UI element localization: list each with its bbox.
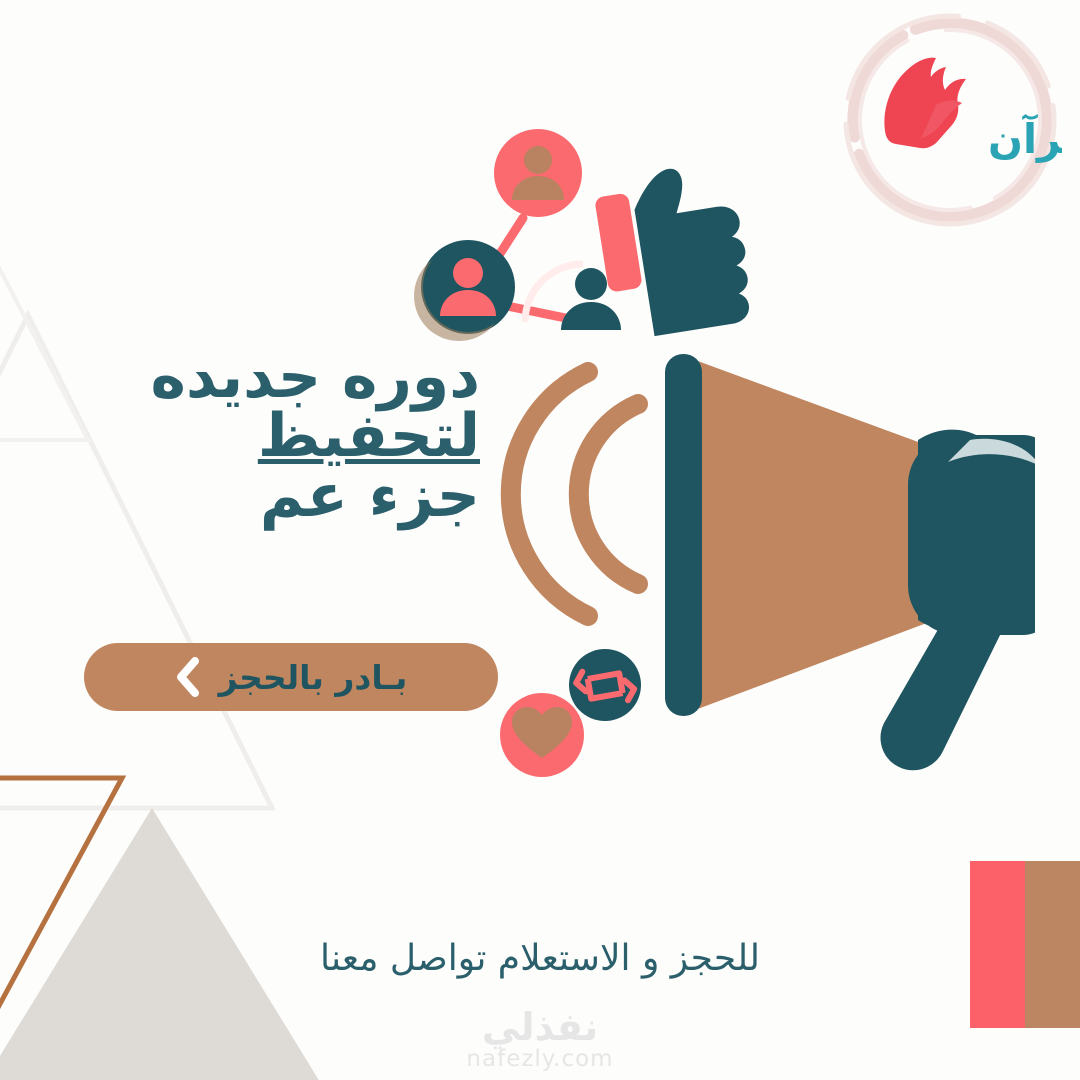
chevron-left-icon: [175, 657, 201, 697]
contact-line: للحجز و الاستعلام تواصل معنا: [120, 938, 960, 979]
heart-icon[interactable]: [500, 693, 584, 777]
book-now-button-label: بـادر بالحجز: [219, 658, 408, 697]
page-title: دوره جديده لتحفيظ جزء عم: [151, 348, 480, 526]
poster-canvas: شعار رحاب القرآن رحاب القرآن: [0, 0, 1080, 1080]
watermark-domain: nafezly.com: [0, 1048, 1080, 1071]
coral-block: [970, 861, 1025, 1028]
megaphone-front-bar: [665, 354, 702, 716]
user-node-coral-icon[interactable]: [494, 129, 582, 217]
white-outline-triangle-small: [0, 250, 88, 440]
corner-color-blocks: [970, 861, 1080, 1028]
headline-line-3: جزء عم: [151, 467, 480, 526]
sound-wave-arcs: [511, 372, 638, 616]
brown-block: [1025, 861, 1080, 1028]
book-now-button[interactable]: بـادر بالحجز: [84, 643, 498, 711]
watermark-arabic: نفذلي: [0, 1008, 1080, 1046]
headline-line-2: لتحفيظ: [151, 407, 480, 466]
megaphone-cone: [695, 360, 940, 710]
megaphone-icon: [665, 354, 1035, 770]
watermark: نفذلي nafezly.com: [0, 1008, 1080, 1071]
sound-wave-inner: [579, 404, 638, 584]
user-node-teal-icon[interactable]: [414, 240, 515, 341]
headline-line-1: دوره جديده: [151, 348, 480, 407]
